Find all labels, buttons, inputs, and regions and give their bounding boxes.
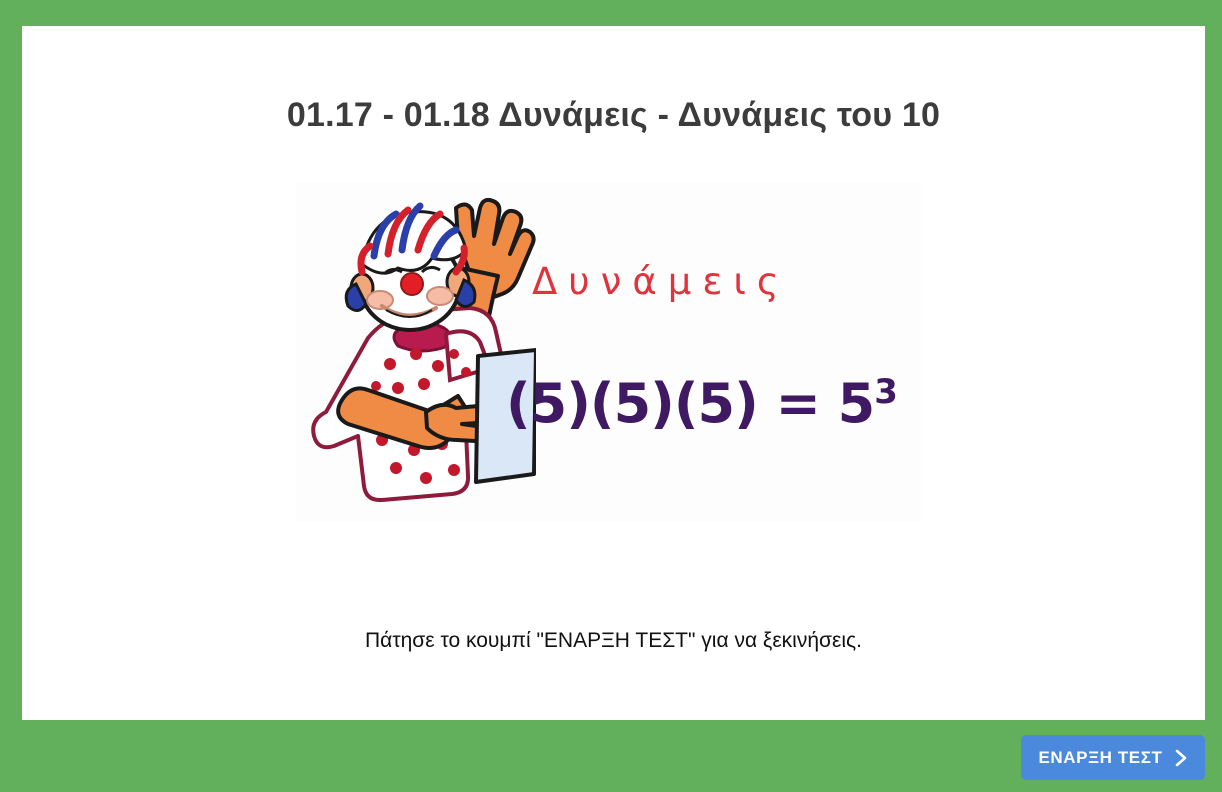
illustration-word: Δυνάμεις xyxy=(532,260,922,303)
lesson-illustration: Δυνάμεις (5)(5)(5) = 53 xyxy=(296,182,922,522)
formula-base: (5)(5)(5) = 5 xyxy=(506,372,874,435)
start-test-button[interactable]: ΕΝΑΡΞΗ ΤΕΣΤ xyxy=(1021,735,1205,780)
content-panel: 01.17 - 01.18 Δυνάμεις - Δυνάμεις του 10 xyxy=(22,26,1205,720)
chevron-right-icon xyxy=(1175,749,1188,767)
formula-exponent: 3 xyxy=(874,372,898,412)
instruction-text: Πάτησε το κουμπί "ΕΝΑΡΞΗ ΤΕΣΤ" για να ξε… xyxy=(22,627,1205,654)
illustration-formula: (5)(5)(5) = 53 xyxy=(506,372,898,435)
page-title: 01.17 - 01.18 Δυνάμεις - Δυνάμεις του 10 xyxy=(22,95,1205,136)
start-test-button-label: ΕΝΑΡΞΗ ΤΕΣΤ xyxy=(1038,748,1162,768)
clown-figure-icon xyxy=(306,188,536,518)
